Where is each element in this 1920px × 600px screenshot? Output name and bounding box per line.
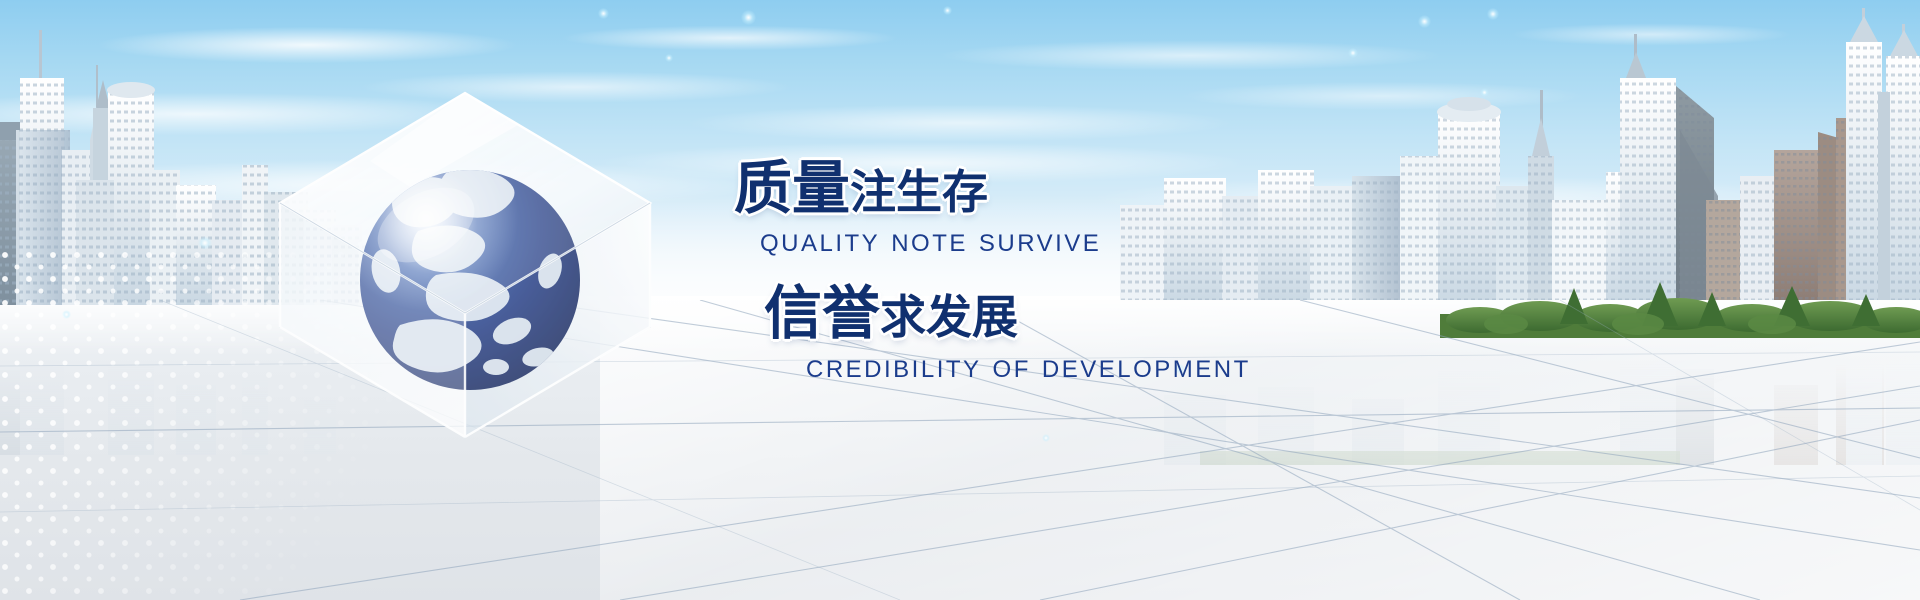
- slogan-2-headline-bold: 信誉: [764, 281, 880, 346]
- glass-cube-globe-artwork: [250, 75, 680, 455]
- slogan-2-word-3: DEVELOPMENT: [1042, 356, 1251, 383]
- slogan-1-word-2: NOTE: [891, 230, 968, 257]
- slogan-1-word-1: QUALITY: [760, 230, 880, 257]
- slogan-2-word-2: OF: [993, 356, 1031, 383]
- slogan-1-headline-bold: 质量: [734, 156, 850, 221]
- slogan-1-subtitle: QUALITYNOTESURVIVE: [760, 230, 1101, 258]
- slogan-1-headline-rest: 注生存: [850, 166, 988, 218]
- slogan-1-word-3: SURVIVE: [979, 230, 1101, 257]
- slogan-1-headline: 质量注生存: [734, 160, 988, 218]
- hero-banner: 质量注生存 QUALITYNOTESURVIVE 信誉求发展 CREDIBILI…: [0, 0, 1920, 600]
- slogan-2-headline-rest: 求发展: [880, 291, 1018, 343]
- slogan-2-subtitle: CREDIBILITYOFDEVELOPMENT: [806, 356, 1251, 384]
- slogan-2-headline: 信誉求发展: [764, 285, 1018, 343]
- slogan-2-word-1: CREDIBILITY: [806, 356, 982, 383]
